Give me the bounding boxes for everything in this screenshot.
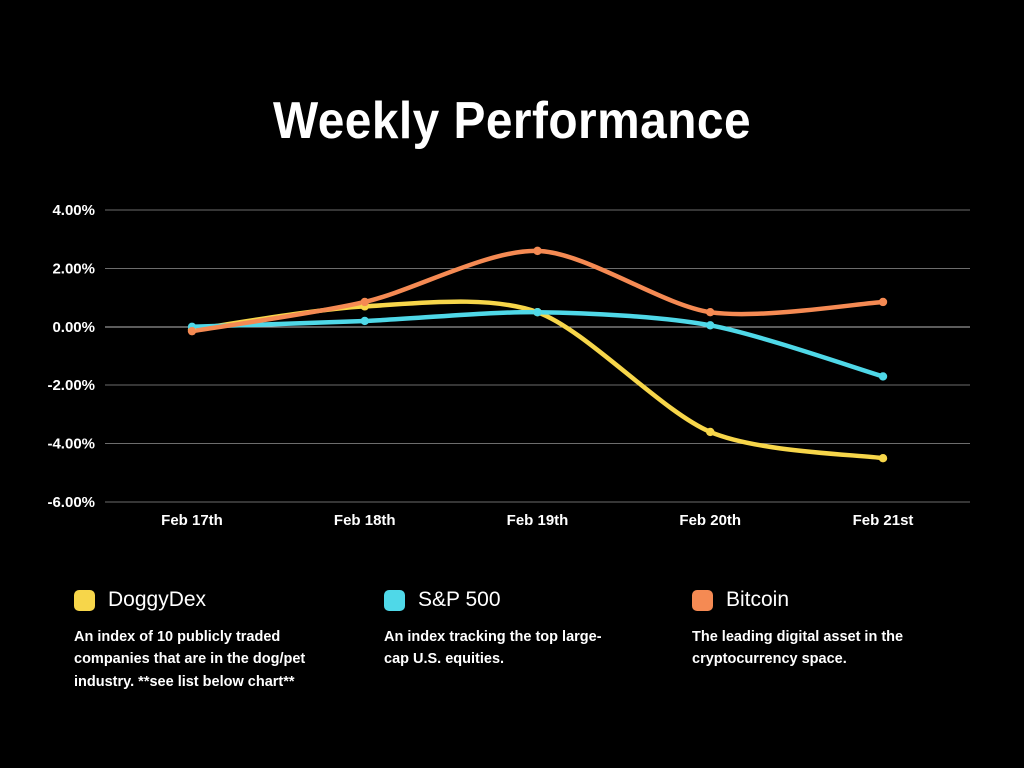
data-point-marker[interactable] bbox=[879, 454, 887, 462]
data-point-marker[interactable] bbox=[361, 298, 369, 306]
data-point-marker[interactable] bbox=[188, 327, 196, 335]
y-axis-tick-label: 0.00% bbox=[52, 319, 95, 336]
plot-area: 4.00%2.00%0.00%-2.00%-4.00%-6.00% Feb 17… bbox=[0, 0, 1024, 560]
legend-item-doggydex[interactable]: DoggyDex An index of 10 publicly traded … bbox=[74, 585, 344, 693]
line-chart-svg: 4.00%2.00%0.00%-2.00%-4.00%-6.00% Feb 17… bbox=[0, 0, 1024, 560]
legend-series-name: DoggyDex bbox=[108, 588, 206, 612]
x-axis-tick-label: Feb 19th bbox=[507, 512, 569, 529]
legend-item-sp500[interactable]: S&P 500 An index tracking the top large-… bbox=[384, 585, 654, 671]
y-axis-tick-label: -2.00% bbox=[47, 377, 95, 394]
data-point-marker[interactable] bbox=[533, 247, 541, 255]
data-point-marker[interactable] bbox=[706, 308, 714, 316]
series-line-bitcoin bbox=[192, 251, 883, 331]
y-axis-tick-label: 4.00% bbox=[52, 202, 95, 219]
data-point-marker[interactable] bbox=[706, 428, 714, 436]
legend-color-swatch-icon bbox=[692, 590, 713, 611]
legend-series-description: An index tracking the top large-cap U.S.… bbox=[384, 626, 609, 671]
series-lines bbox=[192, 251, 883, 458]
data-point-marker[interactable] bbox=[706, 321, 714, 329]
data-point-marker[interactable] bbox=[879, 298, 887, 306]
x-axis-tick-label: Feb 17th bbox=[161, 512, 223, 529]
legend-series-description: The leading digital asset in the cryptoc… bbox=[692, 626, 947, 671]
legend-header: DoggyDex bbox=[74, 585, 344, 615]
data-point-marker[interactable] bbox=[879, 372, 887, 380]
x-axis-tick-label: Feb 18th bbox=[334, 512, 396, 529]
legend-series-description: An index of 10 publicly traded companies… bbox=[74, 626, 314, 693]
x-axis-tick-labels: Feb 17thFeb 18thFeb 19thFeb 20thFeb 21st bbox=[161, 512, 913, 529]
series-markers bbox=[188, 247, 887, 463]
y-axis-tick-label: -6.00% bbox=[47, 494, 95, 511]
legend-color-swatch-icon bbox=[74, 590, 95, 611]
x-axis-tick-label: Feb 20th bbox=[679, 512, 741, 529]
legend-item-bitcoin[interactable]: Bitcoin The leading digital asset in the… bbox=[692, 585, 972, 671]
legend-header: S&P 500 bbox=[384, 585, 654, 615]
x-axis-tick-label: Feb 21st bbox=[853, 512, 914, 529]
legend-series-name: S&P 500 bbox=[418, 588, 501, 612]
data-point-marker[interactable] bbox=[533, 308, 541, 316]
y-axis-tick-label: -4.00% bbox=[47, 436, 95, 453]
y-axis-tick-label: 2.00% bbox=[52, 260, 95, 277]
series-line-s-p-500 bbox=[192, 312, 883, 376]
legend-series-name: Bitcoin bbox=[726, 588, 789, 612]
y-axis-tick-labels: 4.00%2.00%0.00%-2.00%-4.00%-6.00% bbox=[47, 202, 95, 511]
data-point-marker[interactable] bbox=[361, 317, 369, 325]
chart-canvas: Weekly Performance 4.00%2.00%0.00%-2.00%… bbox=[0, 0, 1024, 768]
legend-header: Bitcoin bbox=[692, 585, 972, 615]
legend-color-swatch-icon bbox=[384, 590, 405, 611]
chart-legend: DoggyDex An index of 10 publicly traded … bbox=[0, 585, 1024, 755]
